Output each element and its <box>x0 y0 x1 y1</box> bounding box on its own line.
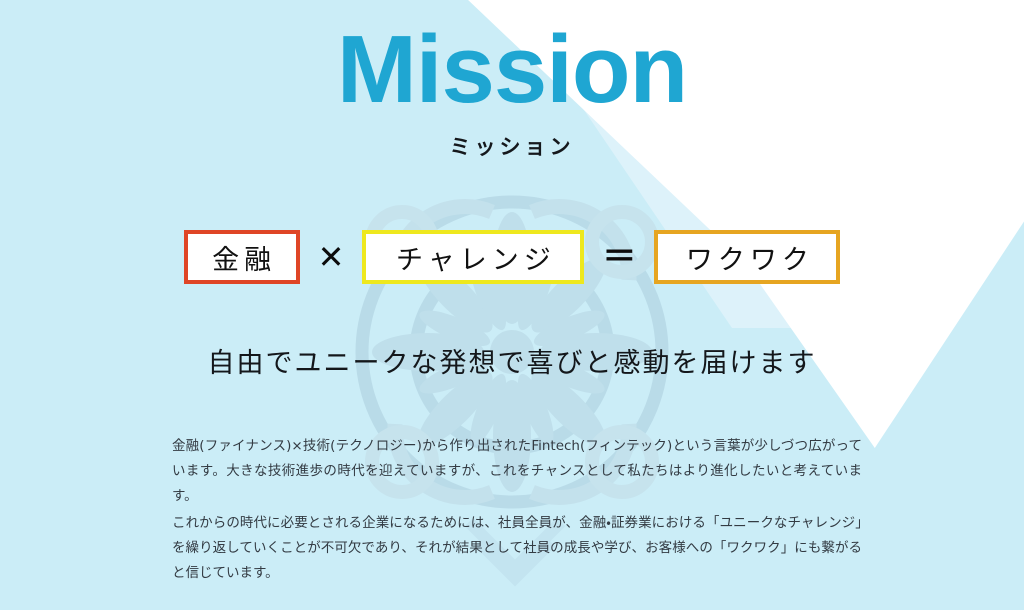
equals-icon: ＝ <box>598 240 640 274</box>
equation-term-challenge: チャレンジ <box>362 230 584 284</box>
body-paragraph: これからの時代に必要とされる企業になるためには、社員全員が、金融・証券業における… <box>172 511 862 586</box>
page-subtitle: ミッション <box>0 131 1024 161</box>
mission-body-copy: 金融(ファイナンス)×技術(テクノロジー)から作り出されたFintech(フィン… <box>172 434 862 586</box>
equation-term-finance-label: 金融 <box>207 238 276 277</box>
slide-content: Mission ミッション 金融 ✕ チャレンジ ＝ ワクワク 自由でユニークな… <box>0 0 1024 610</box>
mission-equation: 金融 ✕ チャレンジ ＝ ワクワク <box>0 230 1024 284</box>
multiply-icon: ✕ <box>314 241 349 273</box>
page-title: Mission <box>0 18 1024 122</box>
mission-slide: Mission ミッション 金融 ✕ チャレンジ ＝ ワクワク 自由でユニークな… <box>0 0 1024 610</box>
equation-term-finance: 金融 <box>184 230 300 284</box>
mission-tagline: 自由でユニークな発想で喜びと感動を届けます <box>0 341 1024 380</box>
equation-term-excite: ワクワク <box>654 230 840 284</box>
body-paragraph: 金融(ファイナンス)×技術(テクノロジー)から作り出されたFintech(フィン… <box>172 434 862 509</box>
equation-term-excite-label: ワクワク <box>681 238 814 277</box>
equation-term-challenge-label: チャレンジ <box>391 238 556 277</box>
